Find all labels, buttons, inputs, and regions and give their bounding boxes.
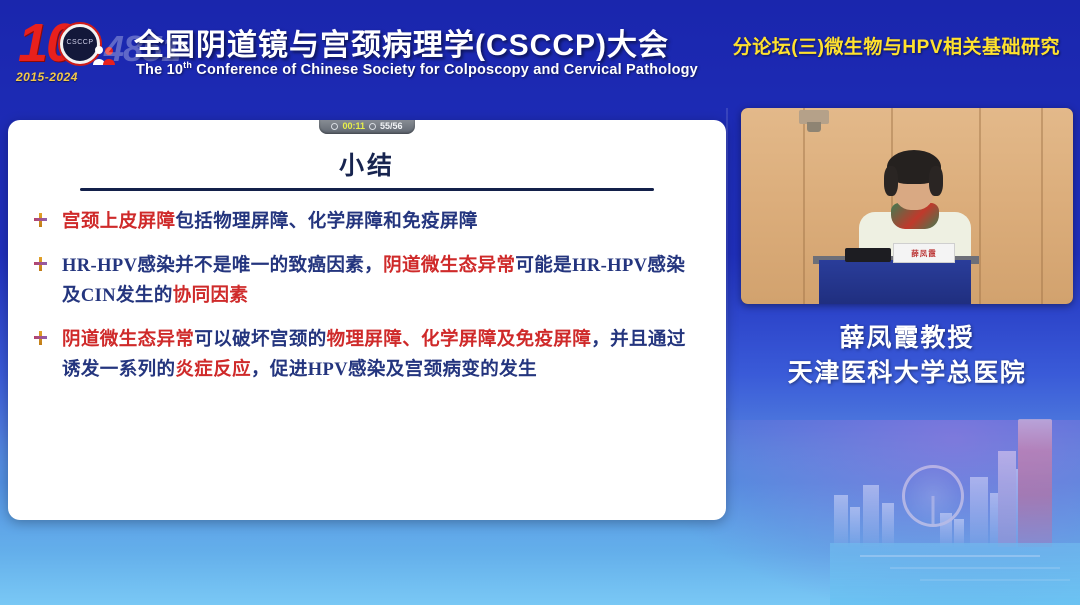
bullet-text: 阴道微生态异常可以破坏宫颈的物理屏障、化学屏障及免疫屏障，并且通过诱发一系列的炎… [62, 330, 686, 380]
bullet-text-segment: ，促进HPV感染及宫颈病变的发生 [251, 360, 537, 380]
podium-nameplate: 薛凤霞 [893, 243, 955, 263]
people-icon [92, 44, 118, 66]
bullet-text-segment: 协同因素 [173, 286, 249, 306]
laptop [845, 248, 891, 262]
speaker-hair-right [929, 166, 943, 196]
bullet-marker-icon [34, 257, 47, 271]
bullet-marker-icon [34, 331, 47, 345]
panel-divider [726, 108, 728, 408]
slide-title-underline [80, 188, 654, 191]
session-label: 分论坛(三)微生物与HPV相关基础研究 [733, 32, 1060, 59]
bullet-text-segment: 宫颈上皮屏障 [62, 212, 175, 232]
bullet-item: HR-HPV感染并不是唯一的致癌因素，阴道微生态异常可能是HR-HPV感染及CI… [28, 252, 704, 312]
bullet-text-segment: 可以破坏宫颈的 [194, 330, 326, 350]
title-en-sup: th [183, 60, 192, 70]
ceiling-fixture-shadow [807, 122, 821, 132]
title-en-post: Conference of Chinese Society for Colpos… [192, 62, 698, 78]
timer-elapsed: 00:11 [342, 122, 365, 131]
slide-timer-badge[interactable]: 00:11 55/56 [319, 120, 415, 134]
conference-title-en: The 10th Conference of Chinese Society f… [136, 60, 698, 78]
ferris-wheel-icon [902, 465, 964, 527]
bullet-text-segment: 炎症反应 [175, 360, 251, 380]
city-skyline-graphic [830, 405, 1080, 605]
skyline-water [830, 543, 1080, 605]
bullet-text-segment: 物理屏障、化学屏障及免疫屏障 [327, 330, 592, 350]
conference-logo: 10 CSCCP 2015-2024 [12, 8, 130, 90]
conference-title-cn: 全国阴道镜与宫颈病理学(CSCCP)大会 [134, 20, 669, 64]
slide-title: 小结 [8, 146, 726, 182]
podium [819, 260, 971, 304]
speaker-video-player[interactable]: 薛凤霞 [741, 108, 1073, 304]
skyline-tower-secondary [998, 451, 1016, 547]
clock-icon [331, 123, 338, 130]
skyline-tower-main [1018, 419, 1052, 547]
bullet-text: HR-HPV感染并不是唯一的致癌因素，阴道微生态异常可能是HR-HPV感染及CI… [62, 256, 685, 306]
slide-bullet-list: 宫颈上皮屏障包括物理屏障、化学屏障和免疫屏障 HR-HPV感染并不是唯一的致癌因… [28, 208, 704, 400]
bullet-marker-icon [34, 213, 47, 227]
speaker-organization: 天津医科大学总医院 [741, 353, 1073, 389]
slide-page-counter: 55/56 [380, 122, 403, 131]
speaker-hair-left [884, 166, 898, 196]
bullet-text-segment: 阴道微生态异常 [62, 330, 194, 350]
bullet-text-segment: HR-HPV感染并不是唯一的致癌因素， [62, 256, 383, 276]
title-en-pre: The 10 [136, 62, 183, 78]
speaker-name: 薛凤霞教授 [741, 318, 1073, 354]
bullet-item: 宫颈上皮屏障包括物理屏障、化学屏障和免疫屏障 [28, 208, 704, 238]
conference-header: 10 CSCCP 2015-2024 4851 全国阴道镜与宫颈病理学(CSCC… [0, 0, 1080, 100]
presentation-slide[interactable]: 00:11 55/56 小结 宫颈上皮屏障包括物理屏障、化学屏障和免疫屏障 HR… [8, 120, 726, 520]
pages-icon [369, 123, 376, 130]
bullet-text-segment: 包括物理屏障、化学屏障和免疫屏障 [175, 212, 477, 232]
bullet-item: 阴道微生态异常可以破坏宫颈的物理屏障、化学屏障及免疫屏障，并且通过诱发一系列的炎… [28, 326, 704, 386]
bullet-text-segment: 阴道微生态异常 [383, 256, 515, 276]
bullet-text: 宫颈上皮屏障包括物理屏障、化学屏障和免疫屏障 [62, 212, 478, 232]
logo-years-text: 2015-2024 [16, 70, 78, 84]
